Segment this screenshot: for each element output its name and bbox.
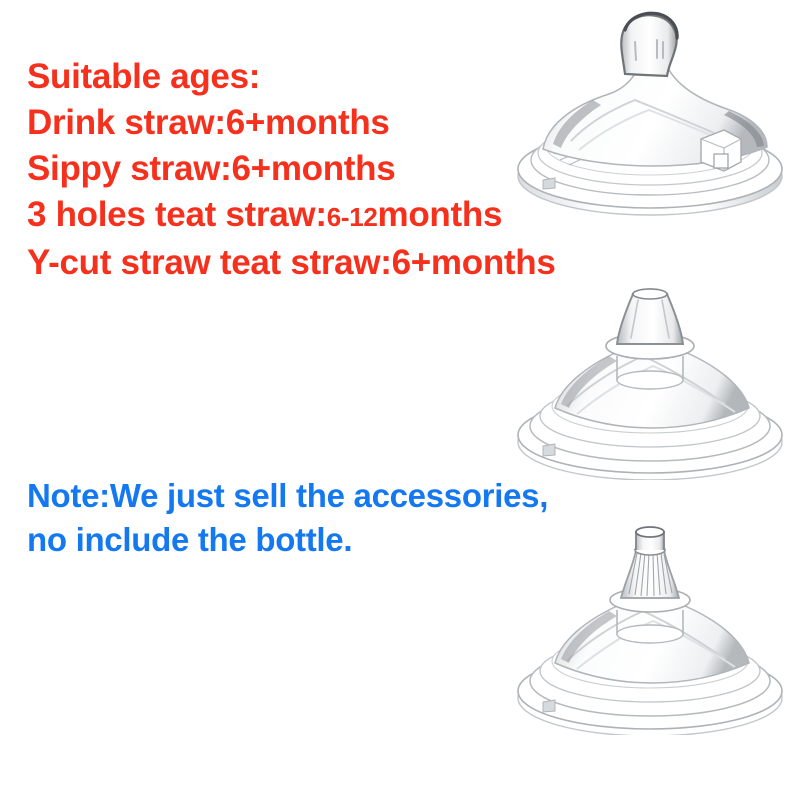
age-line-3-holes-teat-straw-unit: months	[378, 195, 503, 234]
age-line-drink-straw-age: 6+	[226, 103, 265, 142]
product-image-straw-teat-ribbed	[505, 520, 795, 735]
product-image-sippy-spout-teat	[505, 280, 795, 480]
age-line-y-cut-straw-teat: Y-cut straw teat straw:6+months	[27, 240, 556, 286]
note-line-1: Note:We just sell the accessories,	[27, 474, 548, 518]
age-line-sippy-straw: Sippy straw:6+months	[27, 146, 556, 192]
note-line-2: no include the bottle.	[27, 518, 548, 562]
drink-straw-teat-illustration	[505, 8, 795, 223]
age-line-sippy-straw-label: Sippy straw:	[27, 149, 232, 188]
age-line-drink-straw-label: Drink straw:	[27, 103, 226, 142]
valve-detail	[701, 130, 741, 171]
age-line-3-holes-teat-straw: 3 holes teat straw:6-12months	[27, 192, 556, 240]
age-line-drink-straw: Drink straw:6+months	[27, 100, 556, 146]
age-line-drink-straw-unit: months	[265, 103, 390, 142]
age-line-y-cut-straw-teat-label: Y-cut straw teat straw:	[27, 243, 392, 282]
note-text-block: Note:We just sell the accessories, no in…	[27, 474, 548, 562]
age-line-y-cut-straw-teat-age: 6+	[392, 243, 431, 282]
product-info-image: Suitable ages: Drink straw:6+months Sipp…	[0, 0, 800, 800]
product-image-drink-straw-teat	[505, 8, 795, 223]
age-line-y-cut-straw-teat-unit: months	[431, 243, 556, 282]
age-line-sippy-straw-age: 6+	[232, 149, 271, 188]
suitable-ages-text-block: Suitable ages: Drink straw:6+months Sipp…	[27, 54, 556, 286]
age-line-sippy-straw-unit: months	[271, 149, 396, 188]
age-line-3-holes-teat-straw-label: 3 holes teat straw:	[27, 195, 327, 234]
age-line-3-holes-teat-straw-age: 6-12	[327, 202, 378, 232]
straw-teat-ribbed-illustration	[505, 520, 795, 735]
suitable-ages-heading: Suitable ages:	[27, 54, 556, 100]
sippy-spout-illustration	[505, 280, 795, 480]
